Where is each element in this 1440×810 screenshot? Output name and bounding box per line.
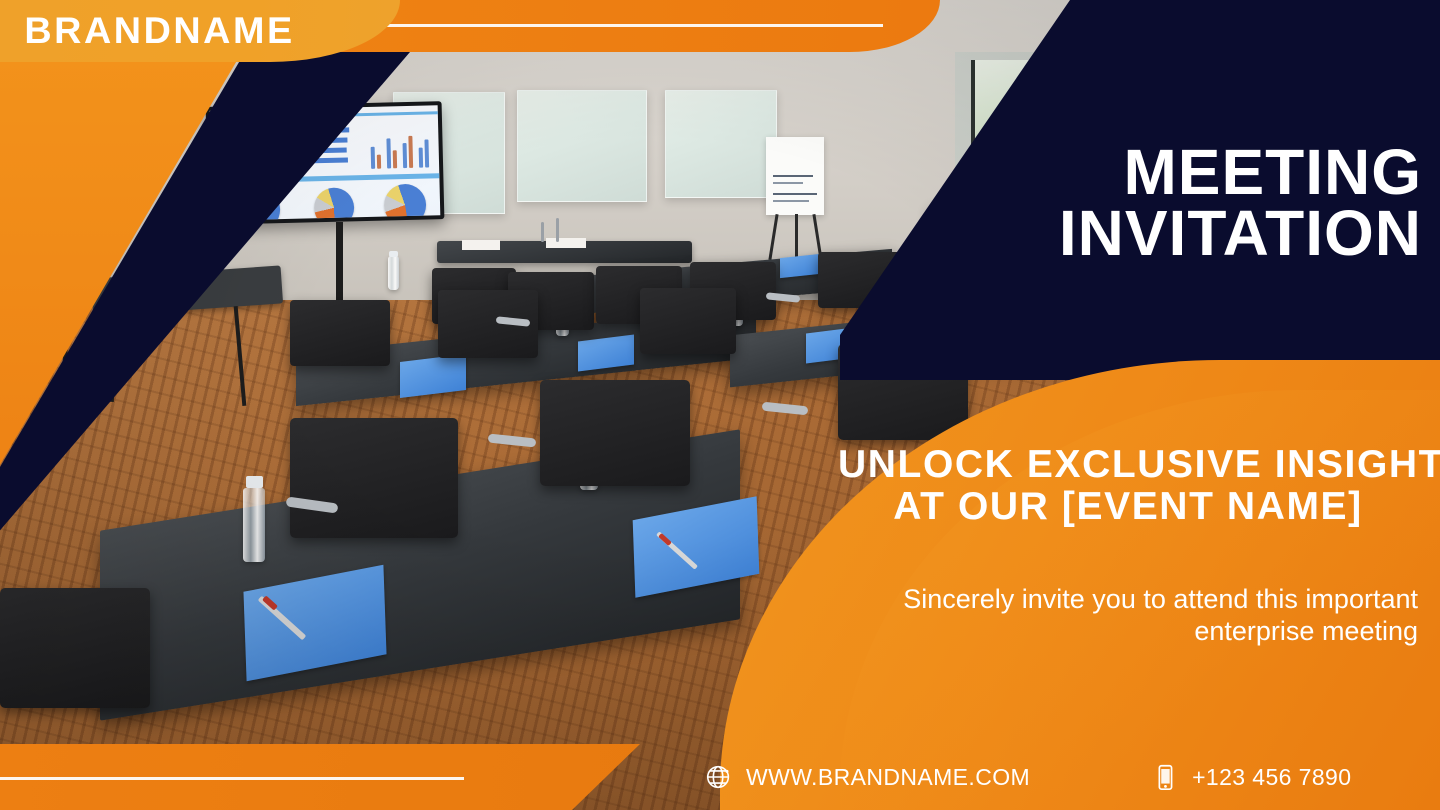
headline-block: UNLOCK EXCLUSIVE INSIGHTS AT OUR [EVENT … — [838, 444, 1418, 528]
meeting-invitation-poster: BRANDNAME MEETING INVITATION UNLOCK EXCL… — [0, 0, 1440, 810]
globe-icon — [704, 762, 734, 792]
subtext-block: Sincerely invite you to attend this impo… — [798, 583, 1418, 648]
phone-contact[interactable]: +123 456 7890 — [1150, 762, 1351, 792]
phone-label: +123 456 7890 — [1192, 764, 1351, 791]
footer-rule-line — [0, 777, 464, 780]
title-line-1: MEETING — [952, 142, 1422, 203]
headline-line-2: AT OUR [EVENT NAME] — [838, 486, 1418, 528]
website-contact[interactable]: WWW.BRANDNAME.COM — [704, 762, 1030, 792]
website-label: WWW.BRANDNAME.COM — [746, 764, 1030, 791]
subtext-line-1: Sincerely invite you to attend this impo… — [798, 583, 1418, 615]
headline-line-1: UNLOCK EXCLUSIVE INSIGHTS — [838, 444, 1418, 486]
footer-contact-bar: WWW.BRANDNAME.COM +123 456 7890 — [690, 744, 1440, 810]
title-line-2: INVITATION — [952, 203, 1422, 264]
page-title: MEETING INVITATION — [952, 142, 1422, 265]
brand-logo-text: BRANDNAME — [24, 12, 294, 49]
subtext-line-2: enterprise meeting — [798, 615, 1418, 647]
header-rule-line — [378, 24, 883, 27]
mobile-phone-icon — [1150, 762, 1180, 792]
